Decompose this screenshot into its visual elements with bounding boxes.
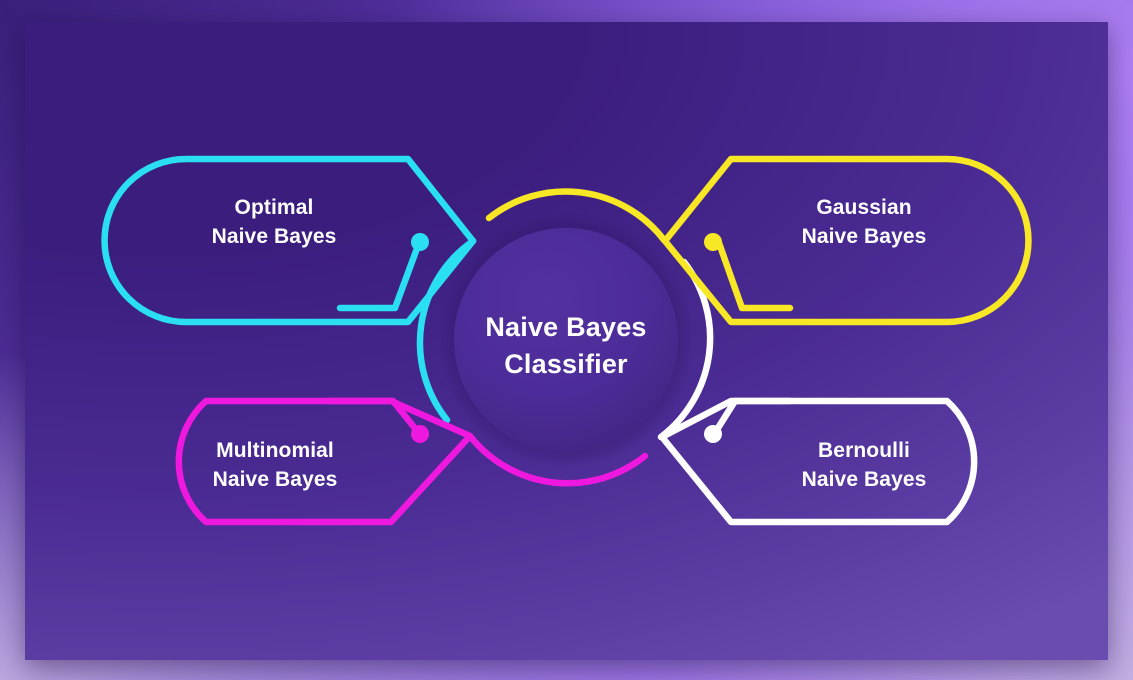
node-multinomial-label-line1: Multinomial bbox=[216, 439, 334, 462]
node-optimal-label-line1: Optimal bbox=[235, 196, 314, 219]
node-multinomial-label-line2: Naive Bayes bbox=[213, 468, 338, 491]
node-optimal-label-line2: Naive Bayes bbox=[212, 225, 337, 248]
node-multinomial-connector-dot bbox=[411, 425, 429, 443]
node-bernoulli-label-line1: Bernoulli bbox=[818, 439, 910, 462]
node-gaussian-connector-dot bbox=[704, 233, 722, 251]
node-gaussian-naive-bayes[interactable]: Gaussian Naive Bayes bbox=[665, 159, 1028, 322]
center-title-line1: Naive Bayes bbox=[485, 312, 646, 342]
node-bernoulli-connector-dot bbox=[704, 425, 722, 443]
naive-bayes-classifier-diagram: Naive Bayes Classifier Optimal Naive Bay… bbox=[0, 0, 1133, 680]
node-bernoulli-naive-bayes[interactable]: Bernoulli Naive Bayes bbox=[662, 401, 974, 522]
diagram-canvas: Naive Bayes Classifier Optimal Naive Bay… bbox=[0, 0, 1133, 680]
node-gaussian-label-line1: Gaussian bbox=[816, 196, 911, 219]
node-multinomial-naive-bayes[interactable]: Multinomial Naive Bayes bbox=[179, 401, 470, 522]
node-optimal-naive-bayes[interactable]: Optimal Naive Bayes bbox=[105, 159, 473, 322]
node-bernoulli-connector bbox=[718, 401, 790, 428]
node-gaussian-connector bbox=[719, 243, 790, 308]
center-hub: Naive Bayes Classifier bbox=[438, 212, 694, 468]
node-bernoulli-label-line2: Naive Bayes bbox=[802, 468, 927, 491]
node-gaussian-label-line2: Naive Bayes bbox=[802, 225, 927, 248]
node-optimal-connector-dot bbox=[411, 233, 429, 251]
center-title-line2: Classifier bbox=[504, 349, 628, 379]
node-optimal-connector bbox=[340, 243, 419, 308]
